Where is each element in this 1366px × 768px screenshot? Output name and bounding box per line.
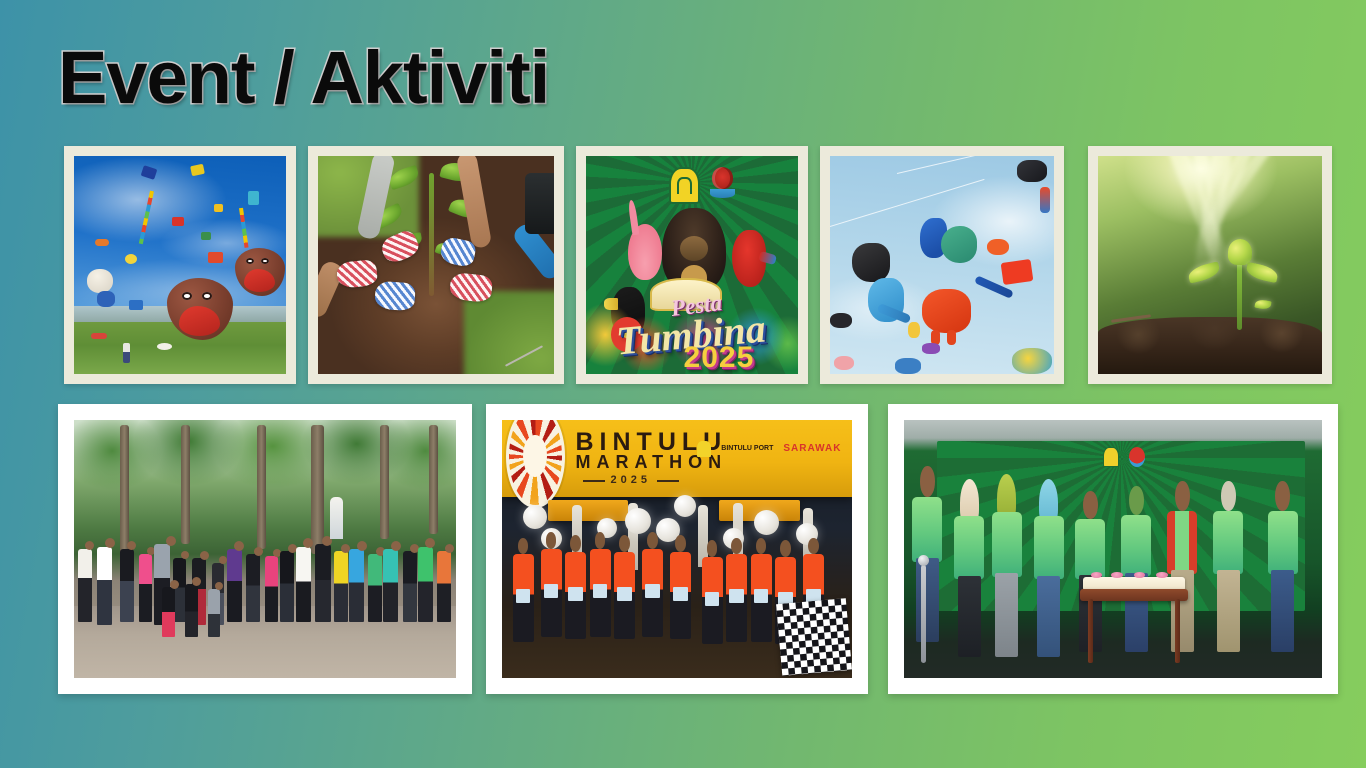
seedling-leaf-top	[1227, 238, 1252, 265]
kite-belly	[179, 306, 220, 336]
sapling-stem	[429, 173, 434, 295]
vip-head	[1175, 481, 1189, 511]
event-banner-flag	[330, 497, 343, 538]
cake-rose-decoration	[1111, 572, 1122, 578]
marathon-runner	[513, 554, 534, 642]
gallery-card-kite-festival[interactable]	[64, 146, 296, 384]
runner-head	[731, 538, 742, 555]
kite-orange-fish	[987, 239, 1009, 255]
crowd-head	[127, 541, 136, 550]
crowd-person	[418, 547, 433, 623]
seedling-stem	[1237, 256, 1242, 330]
stage-light-bar	[548, 500, 629, 521]
photo-tree-planting	[318, 156, 554, 374]
kite-pink-small	[834, 356, 854, 370]
crowd-person	[280, 551, 294, 622]
crowd-head	[219, 556, 227, 564]
poster-flamingo	[628, 224, 662, 281]
slide-root: Event / Aktiviti	[0, 0, 1366, 768]
runner-head	[780, 540, 791, 557]
ceremony-attendee	[954, 472, 984, 658]
photo-group-photo	[74, 420, 456, 678]
crowd-head	[303, 538, 313, 548]
crowd-of-participants	[74, 518, 456, 637]
white-balloon	[523, 505, 547, 529]
kite-streamer	[1040, 187, 1050, 213]
attendee-head	[1275, 481, 1289, 511]
attendee-head	[920, 466, 934, 497]
checkered-flag	[775, 598, 851, 676]
runner-bib	[568, 587, 583, 601]
white-balloon	[625, 508, 651, 534]
attendee-head-with-cap	[1221, 481, 1235, 511]
runner-head	[570, 535, 581, 552]
kite-small	[208, 252, 223, 263]
marathon-runner	[670, 552, 691, 640]
kite-dark-bottom-left	[830, 313, 852, 328]
ground-tent	[91, 333, 107, 339]
ceremony-attendee	[1213, 466, 1243, 652]
ceremony-attendee	[992, 466, 1022, 657]
dragon-body	[941, 226, 978, 262]
kite-belly	[244, 269, 275, 292]
kite-purple-small	[922, 343, 940, 354]
vip-head-with-cap	[1129, 486, 1143, 515]
crowd-person	[97, 547, 112, 625]
kite-eye	[246, 258, 254, 264]
crowd-person-front-child	[185, 584, 198, 636]
kite-yellow-big	[1012, 348, 1052, 374]
kite-small	[129, 300, 143, 310]
attendee-trousers	[1037, 576, 1060, 658]
gallery-card-group-photo[interactable]	[58, 404, 472, 694]
department-round-logo	[709, 167, 737, 202]
attendee-shirt	[992, 512, 1022, 577]
runner-head	[675, 535, 686, 552]
photo-kite-dragons	[830, 156, 1054, 374]
photo-seedling	[1098, 156, 1322, 374]
kite-eye	[202, 292, 213, 300]
attendee-head	[1083, 491, 1097, 519]
gallery-card-seedling[interactable]	[1088, 146, 1332, 384]
crowd-head	[391, 541, 401, 551]
ceremony-attendee	[1034, 472, 1064, 658]
vip-shirt-with-red-vest	[1167, 511, 1197, 574]
photo-pesta-poster: Pesta Tumbina 2025	[586, 156, 798, 374]
runner-head	[707, 540, 718, 557]
kite-small	[95, 239, 109, 246]
marathon-runner	[702, 557, 723, 645]
backdrop-round-logo	[1129, 447, 1145, 467]
cake-rose-decoration	[1156, 572, 1167, 578]
marathon-runner	[642, 549, 663, 637]
crowd-person	[227, 549, 242, 623]
crowd-head	[105, 538, 115, 548]
runner-bib	[516, 589, 531, 603]
poster-macaw	[732, 230, 766, 287]
runner-head	[808, 538, 819, 555]
logo-wave	[710, 189, 735, 198]
crowd-person	[78, 549, 92, 623]
crowd-person	[139, 554, 152, 623]
runner-bib	[544, 584, 559, 598]
crowd-person	[120, 549, 134, 623]
attendee-trousers	[995, 573, 1018, 657]
soil-mound	[1098, 317, 1322, 374]
gallery-card-tree-planting[interactable]	[308, 146, 564, 384]
sponsor-council-icon	[697, 441, 711, 457]
kite-small	[172, 217, 184, 226]
table-top	[1080, 589, 1189, 601]
crowd-person-front-child	[162, 587, 175, 637]
sponsor-bintulu-port: BINTULU PORT	[721, 445, 773, 453]
gallery-card-cake-ceremony[interactable]	[888, 404, 1338, 694]
kite-bird-dark	[1017, 160, 1047, 182]
runner-bib	[754, 589, 769, 603]
bintulu-council-shield-logo	[669, 167, 701, 204]
vip-shirt	[1121, 515, 1151, 576]
crowd-person	[349, 549, 364, 623]
kite-small	[190, 163, 205, 175]
runner-bib	[645, 584, 660, 598]
crowd-person	[296, 547, 311, 623]
crowd-head	[234, 541, 244, 551]
marathon-runner	[590, 549, 611, 637]
cake-rose-decoration	[1134, 572, 1145, 578]
attendee-trousers	[916, 558, 939, 642]
photo-bintulu-marathon: BINTULU MARATHON 2025 BINTULU PORT SARAW…	[502, 420, 852, 678]
kite-eye	[261, 258, 269, 264]
marathon-sponsor-strip: BINTULU PORT SARAWAK	[697, 441, 841, 457]
kite-small	[214, 204, 223, 212]
crowd-head	[181, 551, 189, 559]
attendee-trousers	[958, 576, 981, 658]
ceremony-attendee	[912, 451, 942, 642]
attendee-shirt	[1075, 519, 1105, 579]
kite-small	[201, 232, 211, 240]
kite-orange-dinosaur	[922, 289, 971, 333]
photo-cake-ceremony	[904, 420, 1322, 678]
attendee-trousers	[1271, 570, 1294, 652]
crowd-head	[166, 536, 176, 546]
kite-bear-white	[87, 269, 113, 293]
runner-bib	[673, 587, 688, 601]
crowd-head	[445, 544, 454, 553]
gallery-card-bintulu-marathon[interactable]: BINTULU MARATHON 2025 BINTULU PORT SARAW…	[486, 404, 868, 694]
kite-dark-figure	[852, 243, 890, 282]
gallery-card-kite-dragons[interactable]	[820, 146, 1064, 384]
marathon-runner	[565, 552, 586, 640]
crowd-person	[315, 544, 331, 622]
bear-muzzle	[680, 236, 708, 261]
ceremony-table	[1080, 575, 1189, 663]
kite-small	[248, 191, 259, 205]
crowd-person	[403, 551, 417, 622]
attendee-trousers	[1217, 570, 1240, 652]
kite-yellow-small	[908, 322, 920, 338]
attendee-shirt	[1213, 511, 1243, 574]
crowd-head	[170, 580, 179, 589]
table-leg	[1175, 599, 1180, 662]
crowd-person	[383, 549, 398, 623]
runner-head	[647, 532, 658, 549]
runner-bib	[705, 592, 720, 606]
attendee-shirt	[912, 497, 942, 562]
attendee-shirt	[1268, 511, 1298, 574]
attendee-shirt	[954, 516, 984, 579]
kite-blue-bottom	[895, 358, 921, 374]
crowd-head	[425, 538, 435, 548]
crowd-person-front-child	[208, 589, 220, 636]
stanchion-post	[921, 565, 926, 663]
crowd-person	[246, 554, 260, 623]
crowd-head	[85, 541, 94, 550]
white-balloon	[674, 495, 696, 517]
dino-leg	[947, 330, 956, 345]
runner-bib	[729, 589, 744, 603]
poster-title-year: 2025	[684, 341, 755, 374]
crowd-person	[437, 551, 451, 622]
spectator	[123, 343, 130, 363]
kite-small	[125, 254, 137, 264]
page-title: Event / Aktiviti	[58, 38, 549, 118]
crowd-head	[200, 551, 209, 560]
crowd-person	[368, 554, 382, 623]
marathon-runner	[614, 552, 635, 640]
marathon-runner	[726, 554, 747, 642]
crowd-head	[357, 541, 367, 551]
gallery-card-pesta-poster[interactable]: Pesta Tumbina 2025	[576, 146, 808, 384]
marathon-runner	[541, 549, 562, 637]
kite-eye	[182, 292, 193, 300]
bag-dark	[525, 173, 554, 234]
crowd-person	[334, 551, 348, 622]
backdrop-council-logo	[1103, 447, 1119, 467]
kite-red-square	[1000, 259, 1033, 285]
shield-inner-mark	[677, 177, 691, 194]
crowd-person	[265, 556, 278, 622]
sponsor-sarawak: SARAWAK	[783, 443, 841, 454]
attendee-shirt	[1034, 516, 1064, 579]
table-leg	[1088, 599, 1093, 662]
runner-bib	[593, 584, 608, 598]
marathon-year: 2025	[611, 474, 651, 486]
cake-rose-decoration	[1091, 572, 1102, 578]
kite-bear-white-body	[97, 291, 115, 307]
photo-kite-festival	[74, 156, 286, 374]
logo-globe	[712, 167, 733, 189]
runner-bib	[617, 587, 632, 601]
runner-head	[619, 535, 630, 552]
ground-kite	[157, 343, 172, 350]
ceremony-attendee	[1268, 466, 1298, 652]
marathon-runner	[751, 554, 772, 642]
crowd-head	[254, 547, 263, 556]
kite-dragon-blue	[920, 213, 996, 270]
